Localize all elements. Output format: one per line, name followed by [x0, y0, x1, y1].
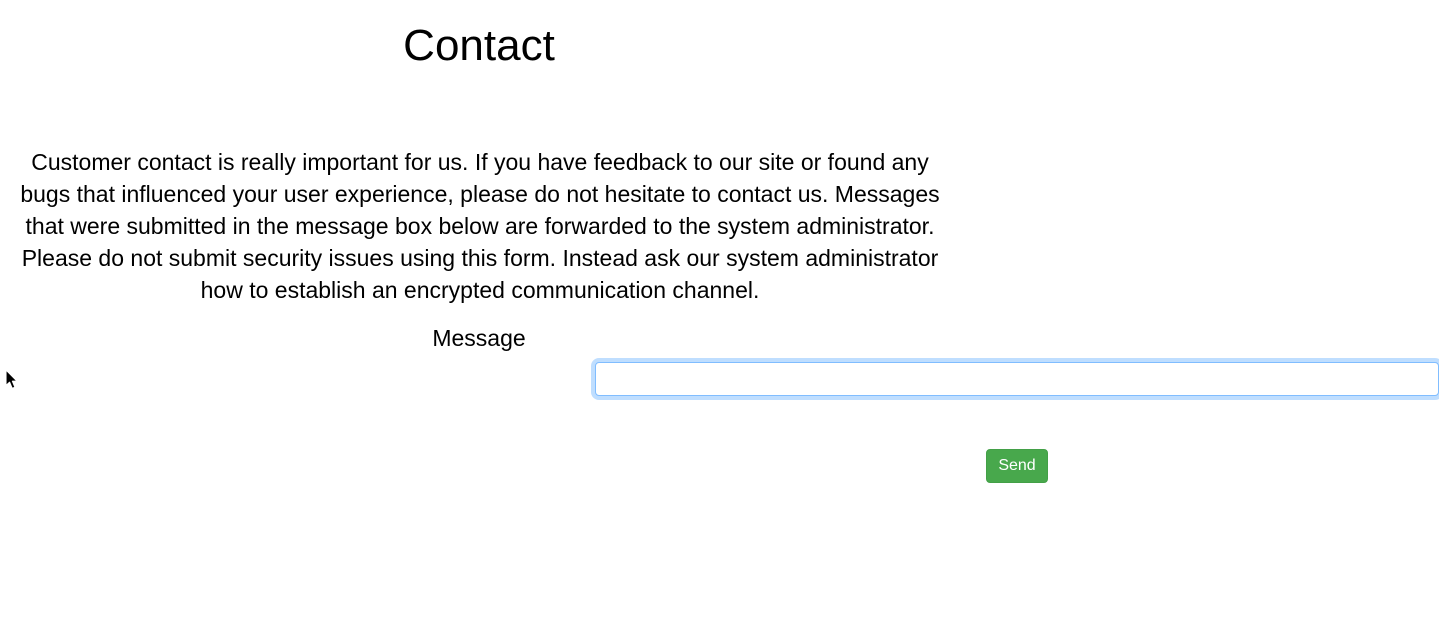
browser-page: Profile Password Change Documents About … [0, 0, 960, 623]
page-title: Contact [0, 0, 960, 70]
intro-paragraph: Customer contact is really important for… [10, 146, 950, 306]
send-button[interactable]: Send [986, 449, 1048, 483]
message-field-label: Message [0, 325, 960, 352]
screen: Profile Password Change Documents About … [0, 0, 1439, 623]
main-content: Contact Customer contact is really impor… [0, 0, 960, 623]
message-input[interactable] [595, 362, 1439, 396]
